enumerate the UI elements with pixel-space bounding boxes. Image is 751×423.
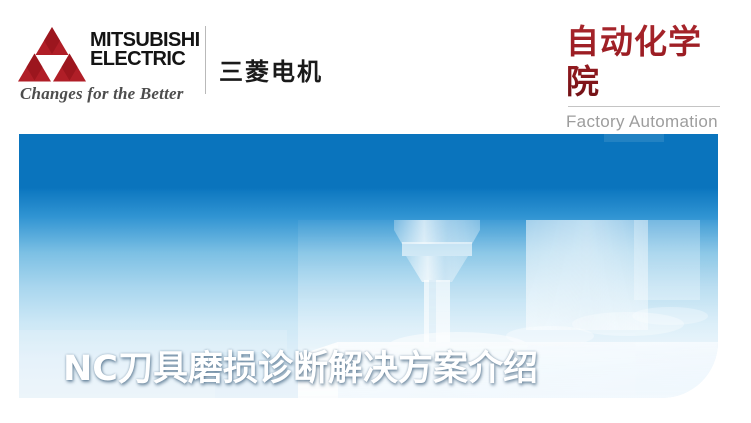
mitsubishi-wordmark: MITSUBISHI ELECTRIC <box>90 31 200 69</box>
mitsubishi-electric-logo: MITSUBISHI ELECTRIC Changes for the Bett… <box>18 24 196 112</box>
academy-subtitle-english: Factory Automation <box>566 112 726 132</box>
brand-name-chinese: 三菱电机 <box>219 52 323 87</box>
factory-automation-academy-logo: 自动化学院 Factory Automation <box>566 22 726 106</box>
page-header: MITSUBISHI ELECTRIC Changes for the Bett… <box>0 0 751 118</box>
academy-title-chinese: 自动化学院 <box>566 22 726 102</box>
wordmark-line-2: ELECTRIC <box>90 50 200 69</box>
slide-title: NC刀具磨损诊断解决方案介绍 <box>63 340 538 391</box>
mitsubishi-three-diamonds-icon <box>18 26 86 82</box>
title-banner: NC刀具磨损诊断解决方案介绍 <box>19 134 718 398</box>
slide-page: MITSUBISHI ELECTRIC Changes for the Bett… <box>0 0 751 423</box>
banner-highlight-top <box>604 134 664 142</box>
academy-rule <box>568 106 720 107</box>
brand-tagline: Changes for the Better <box>20 84 184 104</box>
header-divider <box>205 26 206 94</box>
